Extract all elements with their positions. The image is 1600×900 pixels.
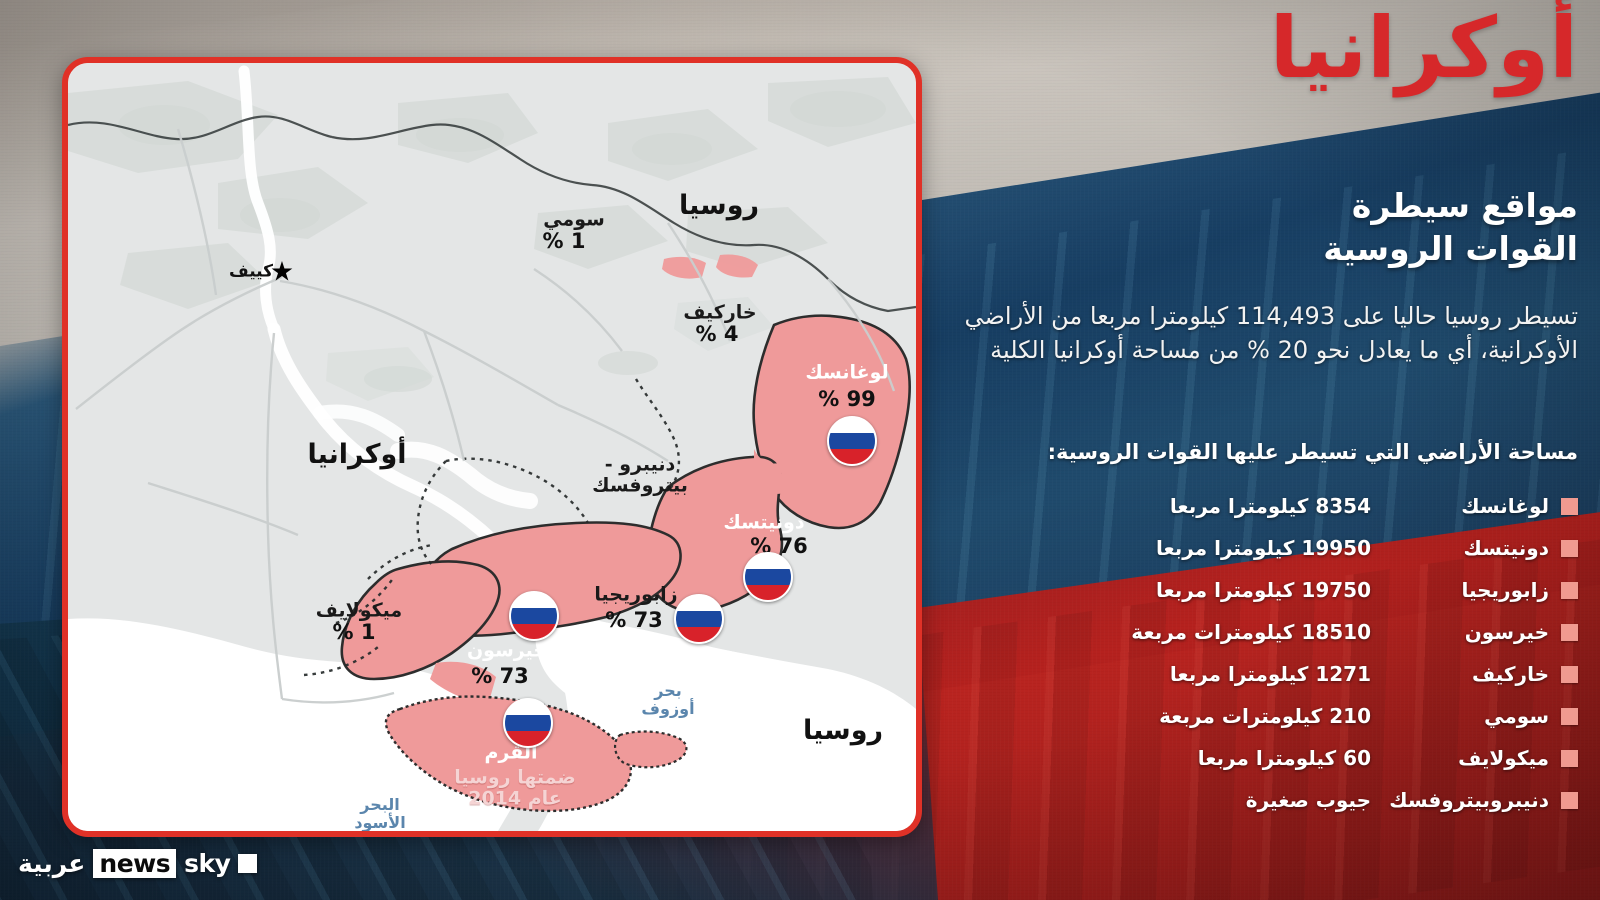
- map-card[interactable]: روسياأوكرانياروسياكييف★بحر أوزوفالبحر ال…: [62, 57, 922, 837]
- legend-region-area: 19750 كيلومترا مربعا: [958, 578, 1371, 602]
- map-sea-label: بحر أوزوف: [641, 682, 694, 718]
- map-region-label: زابوريجيا: [594, 584, 677, 605]
- legend-row: دونيتسك19950 كيلومترا مربعا: [958, 527, 1578, 569]
- map-region-label: دونيتسك: [723, 512, 804, 533]
- legend-swatch-icon: [1561, 540, 1578, 557]
- map-region-label: ميكولايف: [316, 600, 402, 621]
- map-region-label: دنيبرو - بيتروفسك: [592, 455, 688, 498]
- legend-list: لوغانسك8354 كيلومترا مربعادونيتسك19950 ك…: [958, 485, 1578, 821]
- legend-region-name: خيرسون: [1371, 620, 1549, 644]
- map-region-percent: 1 %: [333, 621, 376, 645]
- logo-arabic-text: عربية: [18, 849, 85, 878]
- legend-region-area: 19950 كيلومترا مربعا: [958, 536, 1371, 560]
- map-region-percent: 73 %: [471, 665, 529, 689]
- infographic-root: روسياأوكرانياروسياكييف★بحر أوزوفالبحر ال…: [0, 0, 1600, 900]
- map-sea-label: البحر الأسود: [354, 796, 405, 832]
- right-info-panel: أوكرانيا مواقع سيطرة القوات الروسية تسيط…: [930, 0, 1600, 900]
- logo-news-text: news: [93, 849, 176, 878]
- russian-flag-badge-icon: [674, 594, 724, 644]
- legend-swatch-icon: [1561, 582, 1578, 599]
- map-region-percent: 73 %: [605, 609, 663, 633]
- legend-swatch-icon: [1561, 666, 1578, 683]
- map-city-label: كييف: [229, 262, 273, 281]
- legend-swatch-icon: [1561, 624, 1578, 641]
- map-country-label: روسيا: [679, 191, 759, 221]
- legend-region-name: لوغانسك: [1371, 494, 1549, 518]
- russian-flag-badge-icon: [503, 698, 553, 748]
- map-region-percent: 99 %: [818, 388, 876, 412]
- map-region-percent: 4 %: [696, 323, 739, 347]
- map-country-label: أوكرانيا: [307, 440, 406, 470]
- legend-region-area: 210 كيلومترات مربعة: [958, 704, 1371, 728]
- legend-region-name: دنيبروبيتروفسك: [1371, 788, 1549, 812]
- legend-region-area: 8354 كيلومترا مربعا: [958, 494, 1371, 518]
- legend-row: خيرسون18510 كيلومترات مربعة: [958, 611, 1578, 653]
- logo-sky-text: sky: [184, 849, 230, 878]
- legend-swatch-icon: [1561, 792, 1578, 809]
- legend-row: دنيبروبيتروفسكجيوب صغيرة: [958, 779, 1578, 821]
- summary-paragraph: تسيطر روسيا حاليا على 114,493 كيلومترا م…: [958, 300, 1578, 367]
- map-vector-canvas: [68, 63, 916, 831]
- russian-flag-badge-icon: [827, 416, 877, 466]
- map-region-label: لوغانسك: [805, 362, 888, 383]
- page-title: أوكرانيا: [958, 6, 1578, 90]
- map-region-label: خاركيف: [683, 302, 756, 323]
- legend-row: زابوريجيا19750 كيلومترا مربعا: [958, 569, 1578, 611]
- russian-flag-badge-icon: [509, 591, 559, 641]
- map-crimea-annexation-note: ضمتها روسيا عام 2014: [454, 768, 575, 811]
- capital-star-icon: ★: [270, 259, 294, 286]
- legend-title: مساحة الأراضي التي تسيطر عليها القوات ال…: [958, 440, 1578, 464]
- legend-swatch-icon: [1561, 750, 1578, 767]
- map-region-label: سومي: [543, 209, 605, 230]
- legend-region-name: دونيتسك: [1371, 536, 1549, 560]
- map-region-percent: 1 %: [543, 230, 586, 254]
- page-subtitle: مواقع سيطرة القوات الروسية: [958, 185, 1578, 271]
- legend-region-area: جيوب صغيرة: [958, 788, 1371, 812]
- map-region-label: خيرسون: [467, 640, 547, 661]
- legend-swatch-icon: [1561, 498, 1578, 515]
- sky-news-arabia-logo: sky news عربية: [18, 849, 257, 878]
- legend-row: ميكولايف60 كيلومترا مربعا: [958, 737, 1578, 779]
- legend-region-name: خاركيف: [1371, 662, 1549, 686]
- legend-region-name: ميكولايف: [1371, 746, 1549, 770]
- legend-region-area: 1271 كيلومترا مربعا: [958, 662, 1371, 686]
- legend-region-area: 18510 كيلومترات مربعة: [958, 620, 1371, 644]
- legend-swatch-icon: [1561, 708, 1578, 725]
- map-country-label: روسيا: [803, 716, 883, 746]
- legend-region-name: سومي: [1371, 704, 1549, 728]
- logo-square-icon: [238, 854, 257, 873]
- legend-row: خاركيف1271 كيلومترا مربعا: [958, 653, 1578, 695]
- russian-flag-badge-icon: [743, 552, 793, 602]
- legend-row: سومي210 كيلومترات مربعة: [958, 695, 1578, 737]
- legend-region-area: 60 كيلومترا مربعا: [958, 746, 1371, 770]
- legend-region-name: زابوريجيا: [1371, 578, 1549, 602]
- legend-row: لوغانسك8354 كيلومترا مربعا: [958, 485, 1578, 527]
